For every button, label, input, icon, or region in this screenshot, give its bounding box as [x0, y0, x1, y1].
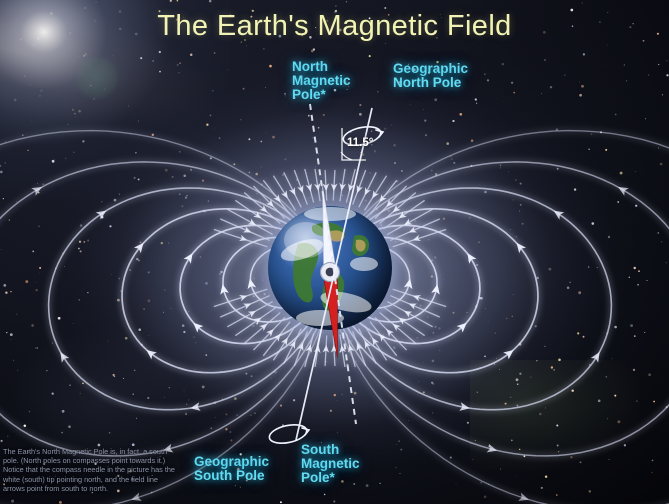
- footnote-text: The Earth's North Magnetic Pole is, in f…: [3, 447, 179, 493]
- label-south-magnetic-pole: South Magnetic Pole*: [301, 443, 360, 485]
- page-title: The Earth's Magnetic Field: [0, 10, 669, 43]
- diagram-canvas: The Earth's Magnetic Field North Magneti…: [0, 0, 669, 504]
- geographic-rotation-axis: [296, 108, 372, 440]
- magnetic-dipole-axis: [310, 104, 356, 424]
- label-tilt-angle: 11.5°: [347, 137, 373, 149]
- label-north-magnetic-pole: North Magnetic Pole*: [292, 60, 351, 102]
- label-geographic-south-pole: Geographic South Pole: [194, 455, 269, 483]
- label-geographic-north-pole: Geographic North Pole: [393, 62, 468, 90]
